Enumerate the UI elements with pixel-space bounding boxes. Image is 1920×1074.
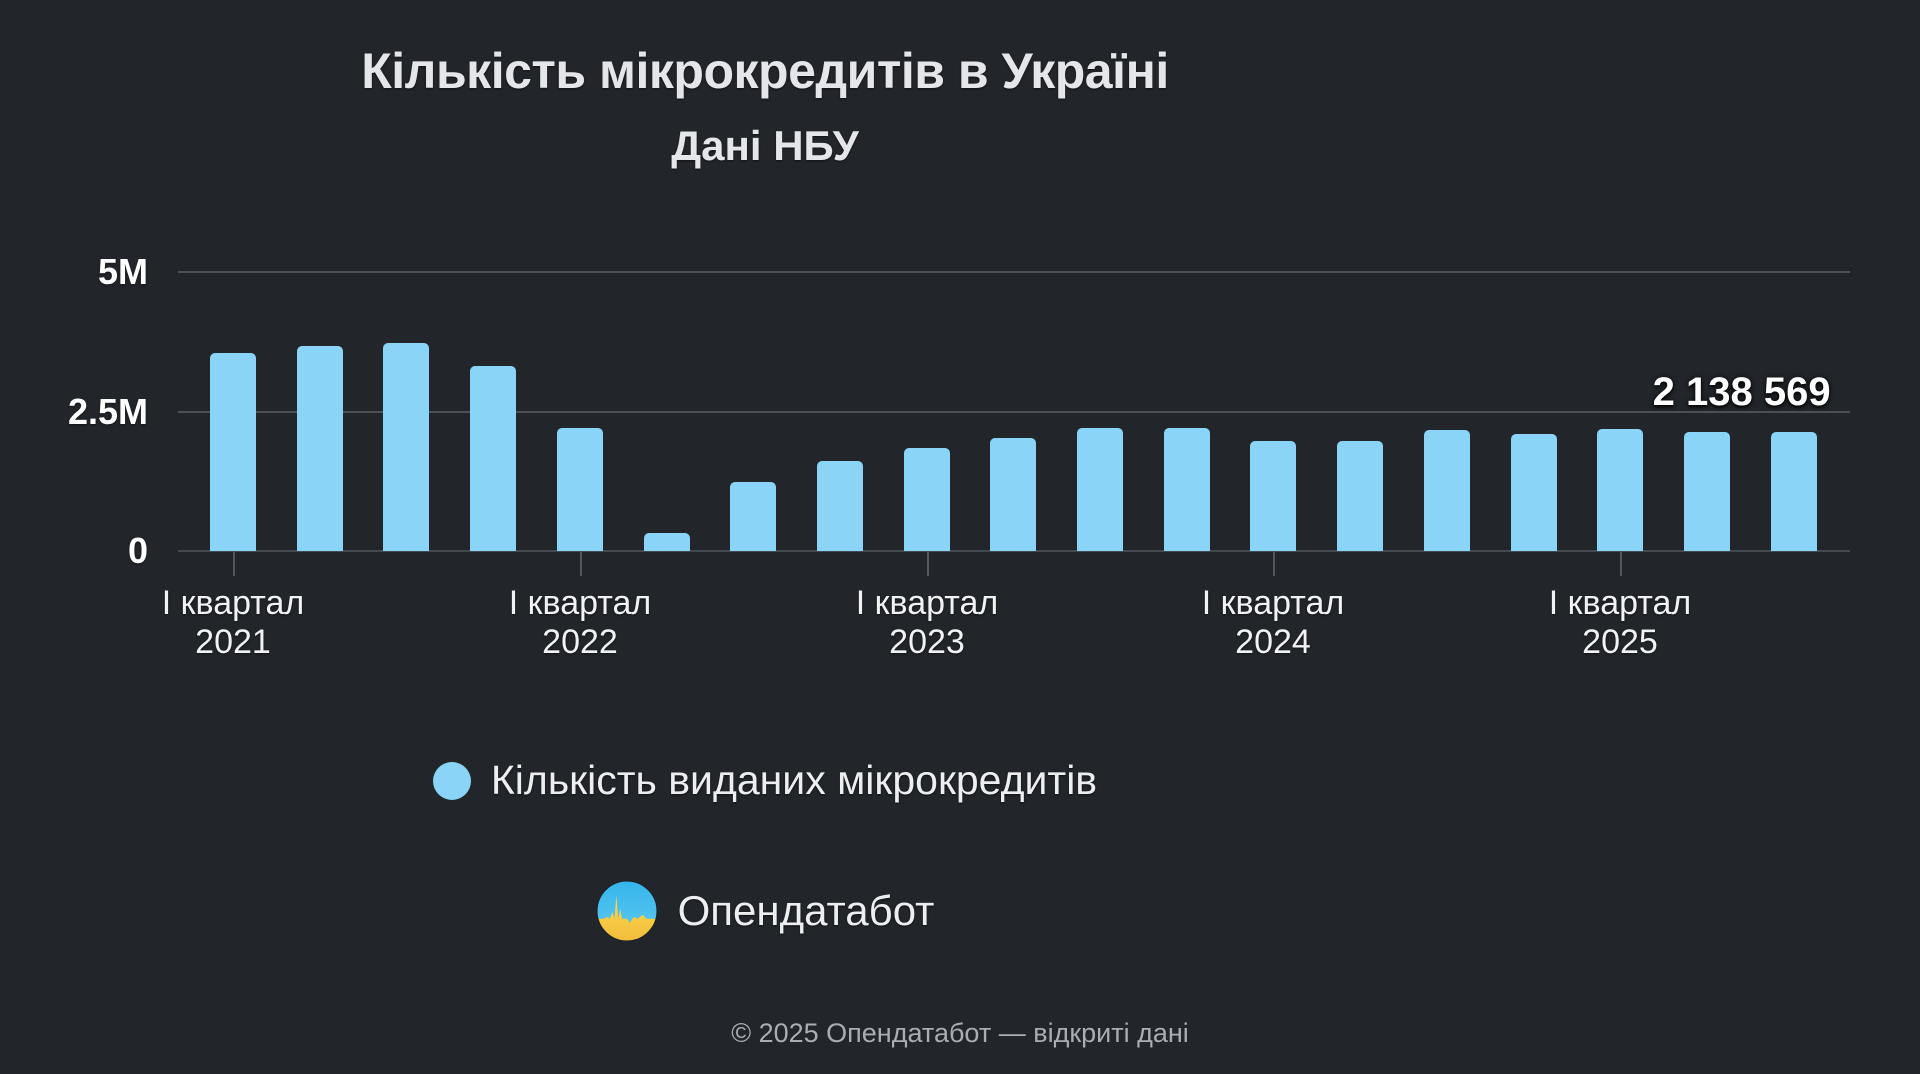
y-axis-tick-label: 0 — [0, 530, 148, 572]
brand-name: Опендатабот — [678, 887, 935, 935]
gridline — [178, 271, 1850, 273]
bar[interactable] — [1250, 441, 1296, 551]
chart-legend: Кількість виданих мікрокредитів — [0, 757, 1530, 804]
x-axis-tick-label: I квартал2024 — [1143, 584, 1403, 662]
last-value-label: 2 138 569 — [1653, 370, 1831, 415]
x-axis-year-text: 2022 — [450, 623, 710, 662]
x-axis-quarter-text: I квартал — [1143, 584, 1403, 623]
bar[interactable] — [210, 353, 256, 551]
bar[interactable] — [817, 461, 863, 551]
bar[interactable] — [1424, 430, 1470, 551]
x-axis-tick-mark — [927, 552, 929, 576]
x-axis-year-text: 2024 — [1143, 623, 1403, 662]
x-axis-tick-label: I квартал2023 — [797, 584, 1057, 662]
bar[interactable] — [1511, 434, 1557, 551]
bar[interactable] — [557, 428, 603, 551]
x-axis-tick-label: I квартал2025 — [1490, 584, 1750, 662]
bar[interactable] — [644, 533, 690, 551]
bar[interactable] — [1164, 428, 1210, 551]
chart-canvas: Кількість мікрокредитів в Україні Дані Н… — [0, 0, 1920, 1074]
bar[interactable] — [1597, 429, 1643, 551]
y-axis-tick-label: 5M — [0, 251, 148, 293]
x-axis-tick-mark — [1273, 552, 1275, 576]
bar[interactable] — [297, 346, 343, 551]
bar[interactable] — [990, 438, 1036, 551]
legend-circle-marker-icon — [433, 762, 471, 800]
x-axis-quarter-text: I квартал — [797, 584, 1057, 623]
x-axis-tick-mark — [1620, 552, 1622, 576]
bar[interactable] — [1771, 432, 1817, 551]
opendatabot-logo-icon — [596, 880, 658, 942]
x-axis-tick-label: I квартал2022 — [450, 584, 710, 662]
bar[interactable] — [730, 482, 776, 551]
x-axis-quarter-text: I квартал — [450, 584, 710, 623]
footer-copyright: © 2025 Опендатабот — відкриті дані — [0, 1018, 1920, 1049]
legend-label: Кількість виданих мікрокредитів — [491, 757, 1097, 804]
x-axis-tick-label: I квартал2021 — [103, 584, 363, 662]
bar[interactable] — [1077, 428, 1123, 551]
y-axis-tick-label: 2.5M — [0, 391, 148, 433]
bar[interactable] — [470, 366, 516, 551]
x-axis-quarter-text: I квартал — [103, 584, 363, 623]
x-axis-year-text: 2025 — [1490, 623, 1750, 662]
x-axis-tick-mark — [580, 552, 582, 576]
brand-block: Опендатабот — [0, 880, 1530, 942]
x-axis-year-text: 2021 — [103, 623, 363, 662]
x-axis-tick-mark — [233, 552, 235, 576]
x-axis-year-text: 2023 — [797, 623, 1057, 662]
bar[interactable] — [1684, 432, 1730, 551]
bar[interactable] — [1337, 441, 1383, 551]
x-axis-quarter-text: I квартал — [1490, 584, 1750, 623]
bar[interactable] — [383, 343, 429, 551]
bar[interactable] — [904, 448, 950, 551]
